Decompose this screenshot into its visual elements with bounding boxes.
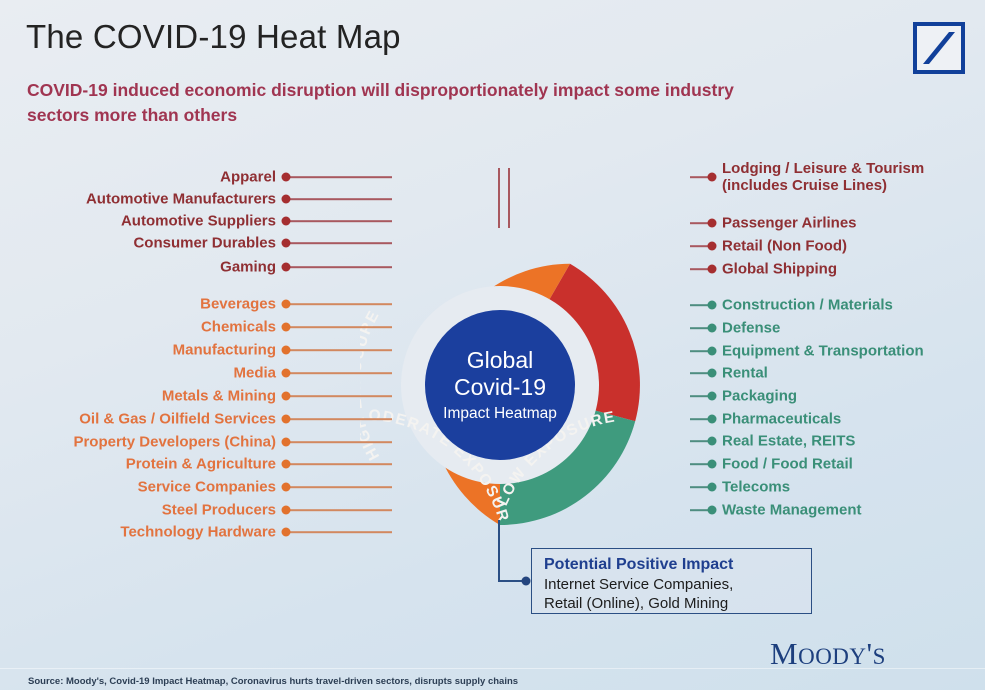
deutsche-bank-logo [913,22,965,74]
connector-dot [708,242,717,251]
sector-label[interactable]: Rental [722,365,768,382]
sector-label[interactable]: Protein & Agriculture [126,456,276,473]
connector-dot [708,483,717,492]
connector-dot [708,392,717,401]
moodys-logo: MOODY'S [770,636,886,672]
connector-dot [282,173,291,182]
connector-line [286,176,392,178]
positive-impact-title: Potential Positive Impact [544,555,801,575]
connector-dot [282,483,291,492]
connector-dot [282,528,291,537]
connector-dot [708,437,717,446]
connector-dot [282,239,291,248]
sector-label[interactable]: Chemicals [201,319,276,336]
positive-connector-vertical [498,520,500,582]
sector-label[interactable]: Manufacturing [173,342,276,359]
connector-dot [282,217,291,226]
sector-label[interactable]: Gaming [220,259,276,276]
connector-dot [282,506,291,515]
connector-line [286,303,392,305]
sector-label[interactable]: Automotive Manufacturers [86,191,276,208]
connector-dot [282,438,291,447]
connector-line [286,531,392,533]
connector-line [286,463,392,465]
page-title: The COVID-19 Heat Map [26,18,401,56]
arc-label-high: HIGH EXPOSURE [360,307,383,463]
connector-line [286,395,392,397]
connector-line [286,441,392,443]
sector-label[interactable]: Real Estate, REITS [722,433,855,450]
sector-label[interactable]: Consumer Durables [133,235,276,252]
sector-label[interactable]: Technology Hardware [120,524,276,541]
hub-line-1: Global [467,347,533,374]
sector-label-continuation: (includes Cruise Lines) [722,177,924,194]
connector-line [286,372,392,374]
connector-dot [708,219,717,228]
sector-label[interactable]: Food / Food Retail [722,456,853,473]
stub-right [508,168,510,228]
connector-dot [282,346,291,355]
connector-dot [708,347,717,356]
deutsche-bank-slash-icon [917,26,961,70]
sector-label[interactable]: Steel Producers [162,502,276,519]
sector-label[interactable]: Equipment & Transportation [722,343,924,360]
page-subtitle: COVID-19 induced economic disruption wil… [27,78,767,128]
sector-label[interactable]: Service Companies [138,479,276,496]
hub-line-3: Impact Heatmap [443,405,557,423]
sector-label[interactable]: Packaging [722,388,797,405]
positive-impact-callout[interactable]: Potential Positive Impact Internet Servi… [531,548,812,614]
sector-label[interactable]: Property Developers (China) [73,434,276,451]
connector-dot [282,415,291,424]
sector-label[interactable]: Global Shipping [722,261,837,278]
sector-label[interactable]: Oil & Gas / Oilfield Services [79,411,276,428]
connector-dot [282,369,291,378]
sector-label[interactable]: Defense [722,320,780,337]
connector-dot [282,300,291,309]
connector-line [286,418,392,420]
connector-dot [708,460,717,469]
sector-label[interactable]: Beverages [200,296,276,313]
connector-dot [708,301,717,310]
connector-line [286,198,392,200]
connector-dot [708,265,717,274]
hub-line-2: Covid-19 [454,374,546,401]
sector-label[interactable]: Passenger Airlines [722,215,857,232]
stub-left [498,168,500,228]
connector-dot [708,173,717,182]
connector-dot [708,324,717,333]
connector-dot [282,460,291,469]
moodys-logo-m: M [770,636,798,671]
sector-label[interactable]: Lodging / Leisure & Tourism(includes Cru… [722,160,924,194]
footer-divider [0,668,985,669]
positive-impact-line-1: Internet Service Companies, [544,575,801,594]
connector-dot [282,195,291,204]
sector-label[interactable]: Waste Management [722,502,861,519]
connector-line [286,266,392,268]
sector-label[interactable]: Retail (Non Food) [722,238,847,255]
sector-label[interactable]: Telecoms [722,479,790,496]
moodys-logo-s: S [873,644,886,669]
sector-label[interactable]: Metals & Mining [162,388,276,405]
donut-center-hub: Global Covid-19 Impact Heatmap [425,310,575,460]
connector-line [286,242,392,244]
connector-line [286,349,392,351]
positive-connector-dot [522,577,531,586]
connector-line [286,326,392,328]
sector-label[interactable]: Pharmaceuticals [722,411,841,428]
sector-label[interactable]: Construction / Materials [722,297,893,314]
connector-dot [708,369,717,378]
connector-dot [282,263,291,272]
connector-dot [282,392,291,401]
connector-line [286,509,392,511]
connector-line [286,486,392,488]
connector-dot [708,415,717,424]
source-note: Source: Moody's, Covid-19 Impact Heatmap… [28,676,518,687]
positive-impact-line-2: Retail (Online), Gold Mining [544,594,801,613]
sector-label[interactable]: Automotive Suppliers [121,213,276,230]
sector-label[interactable]: Media [233,365,276,382]
moodys-logo-oody: OODY [798,644,866,669]
connector-dot [282,323,291,332]
sector-label[interactable]: Apparel [220,169,276,186]
connector-dot [708,506,717,515]
connector-line [286,220,392,222]
